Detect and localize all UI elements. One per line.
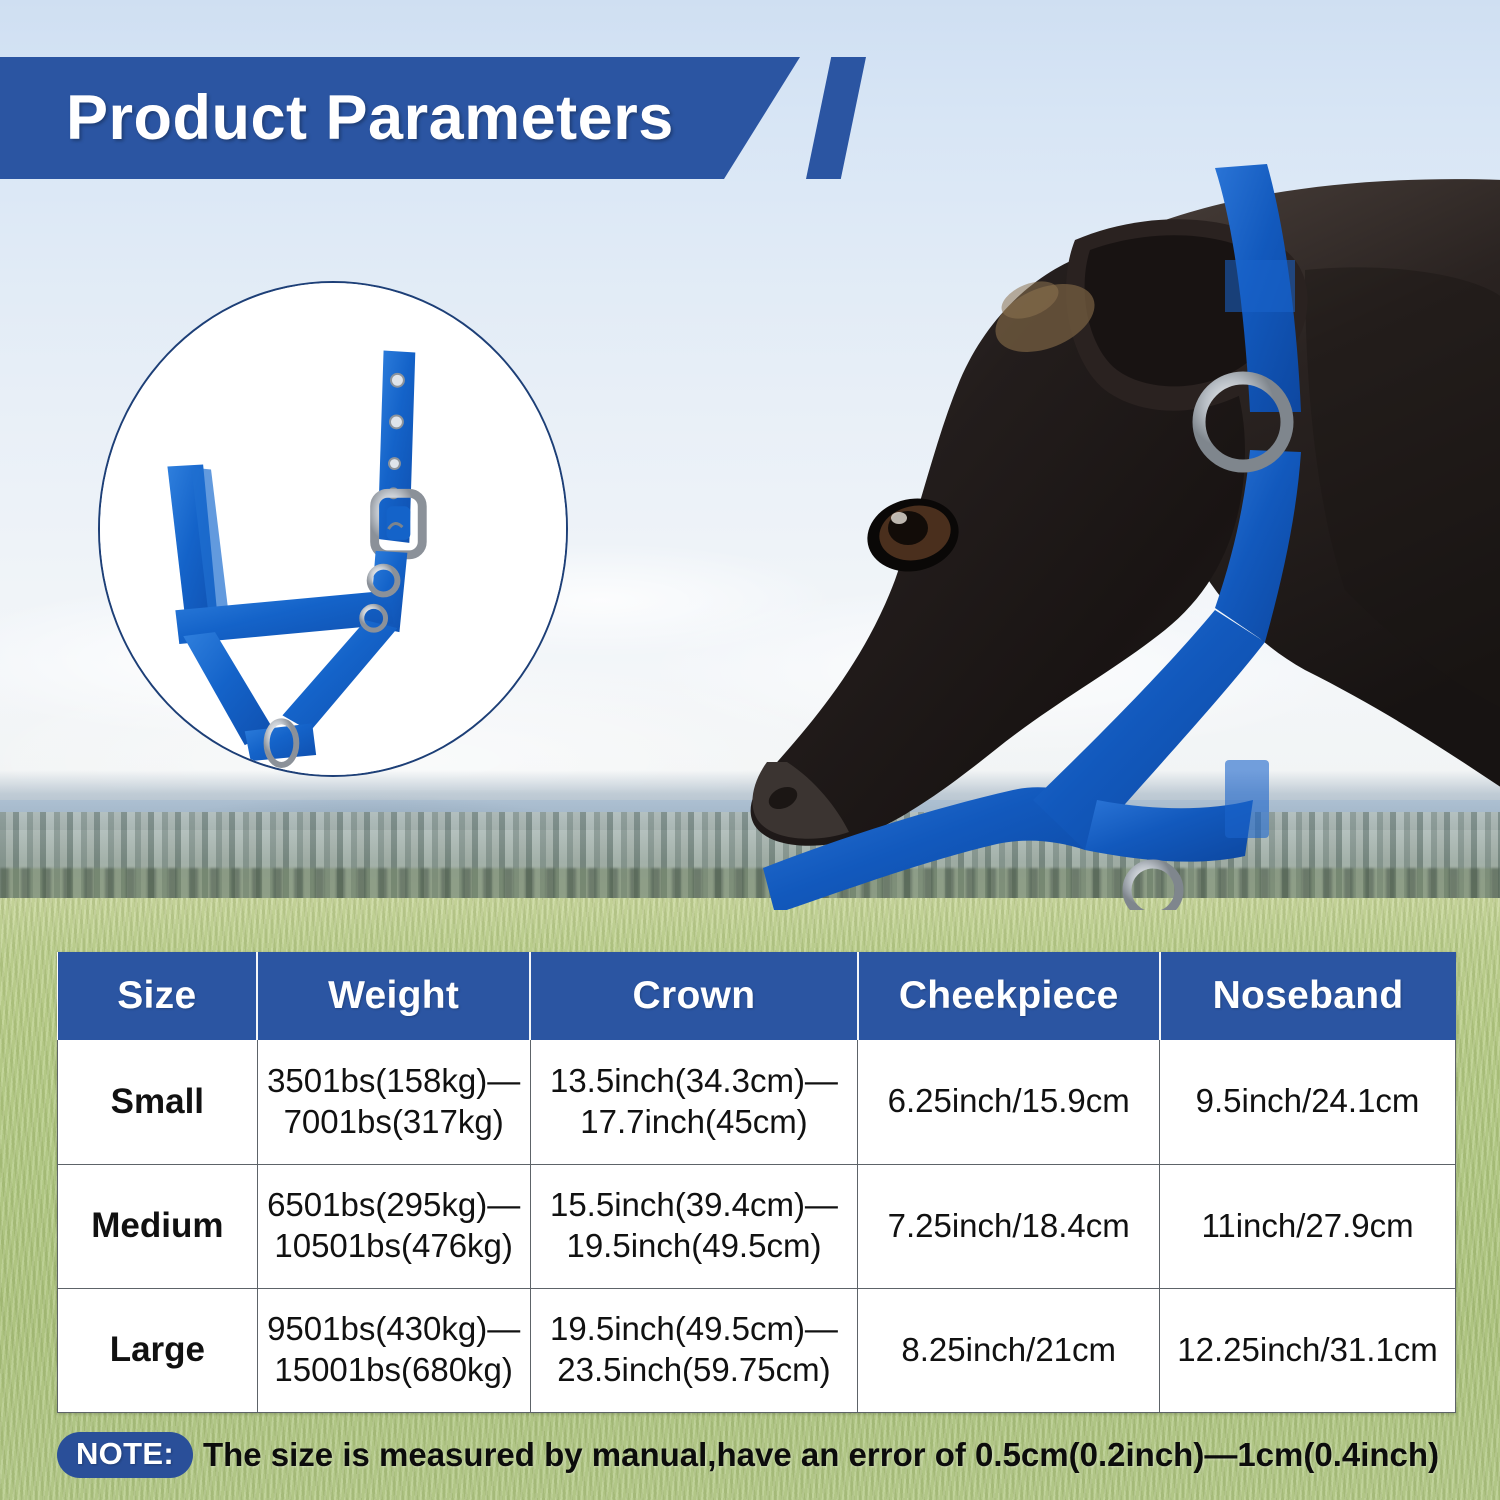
cell-noseband: 11inch/27.9cm	[1160, 1164, 1456, 1288]
note-row: NOTE: The size is measured by manual,hav…	[57, 1432, 1457, 1478]
cell-size: Large	[58, 1288, 258, 1412]
table-row: Large 9501bs(430kg)— 15001bs(680kg) 19.5…	[58, 1288, 1456, 1412]
cell-weight: 6501bs(295kg)— 10501bs(476kg)	[257, 1164, 530, 1288]
col-header-size: Size	[58, 952, 258, 1040]
cell-crown: 13.5inch(34.3cm)— 17.7inch(45cm)	[530, 1040, 858, 1164]
col-header-crown: Crown	[530, 952, 858, 1040]
cell-weight: 3501bs(158kg)— 7001bs(317kg)	[257, 1040, 530, 1164]
cell-crown: 15.5inch(39.4cm)— 19.5inch(49.5cm)	[530, 1164, 858, 1288]
note-text: The size is measured by manual,have an e…	[203, 1436, 1439, 1474]
product-inset-circle	[98, 281, 568, 777]
cell-noseband: 9.5inch/24.1cm	[1160, 1040, 1456, 1164]
note-badge: NOTE:	[57, 1432, 193, 1478]
spec-table: Size Weight Crown Cheekpiece Noseband Sm…	[57, 952, 1456, 1413]
cell-cheekpiece: 7.25inch/18.4cm	[858, 1164, 1160, 1288]
cell-noseband: 12.25inch/31.1cm	[1160, 1288, 1456, 1412]
col-header-cheekpiece: Cheekpiece	[858, 952, 1160, 1040]
cell-weight: 9501bs(430kg)— 15001bs(680kg)	[257, 1288, 530, 1412]
col-header-noseband: Noseband	[1160, 952, 1456, 1040]
calf-photo	[745, 150, 1500, 910]
cell-size: Medium	[58, 1164, 258, 1288]
title-banner: Product Parameters	[0, 57, 900, 179]
cell-cheekpiece: 6.25inch/15.9cm	[858, 1040, 1160, 1164]
cell-cheekpiece: 8.25inch/21cm	[858, 1288, 1160, 1412]
page-title: Product Parameters	[66, 82, 674, 154]
product-parameters-page: Size Weight Crown Cheekpiece Noseband Sm…	[0, 0, 1500, 1500]
table-header-row: Size Weight Crown Cheekpiece Noseband	[58, 952, 1456, 1040]
banner-stripe-accent	[806, 57, 866, 179]
cell-crown: 19.5inch(49.5cm)— 23.5inch(59.75cm)	[530, 1288, 858, 1412]
col-header-weight: Weight	[257, 952, 530, 1040]
table-row: Medium 6501bs(295kg)— 10501bs(476kg) 15.…	[58, 1164, 1456, 1288]
cell-size: Small	[58, 1040, 258, 1164]
table-row: Small 3501bs(158kg)— 7001bs(317kg) 13.5i…	[58, 1040, 1456, 1164]
